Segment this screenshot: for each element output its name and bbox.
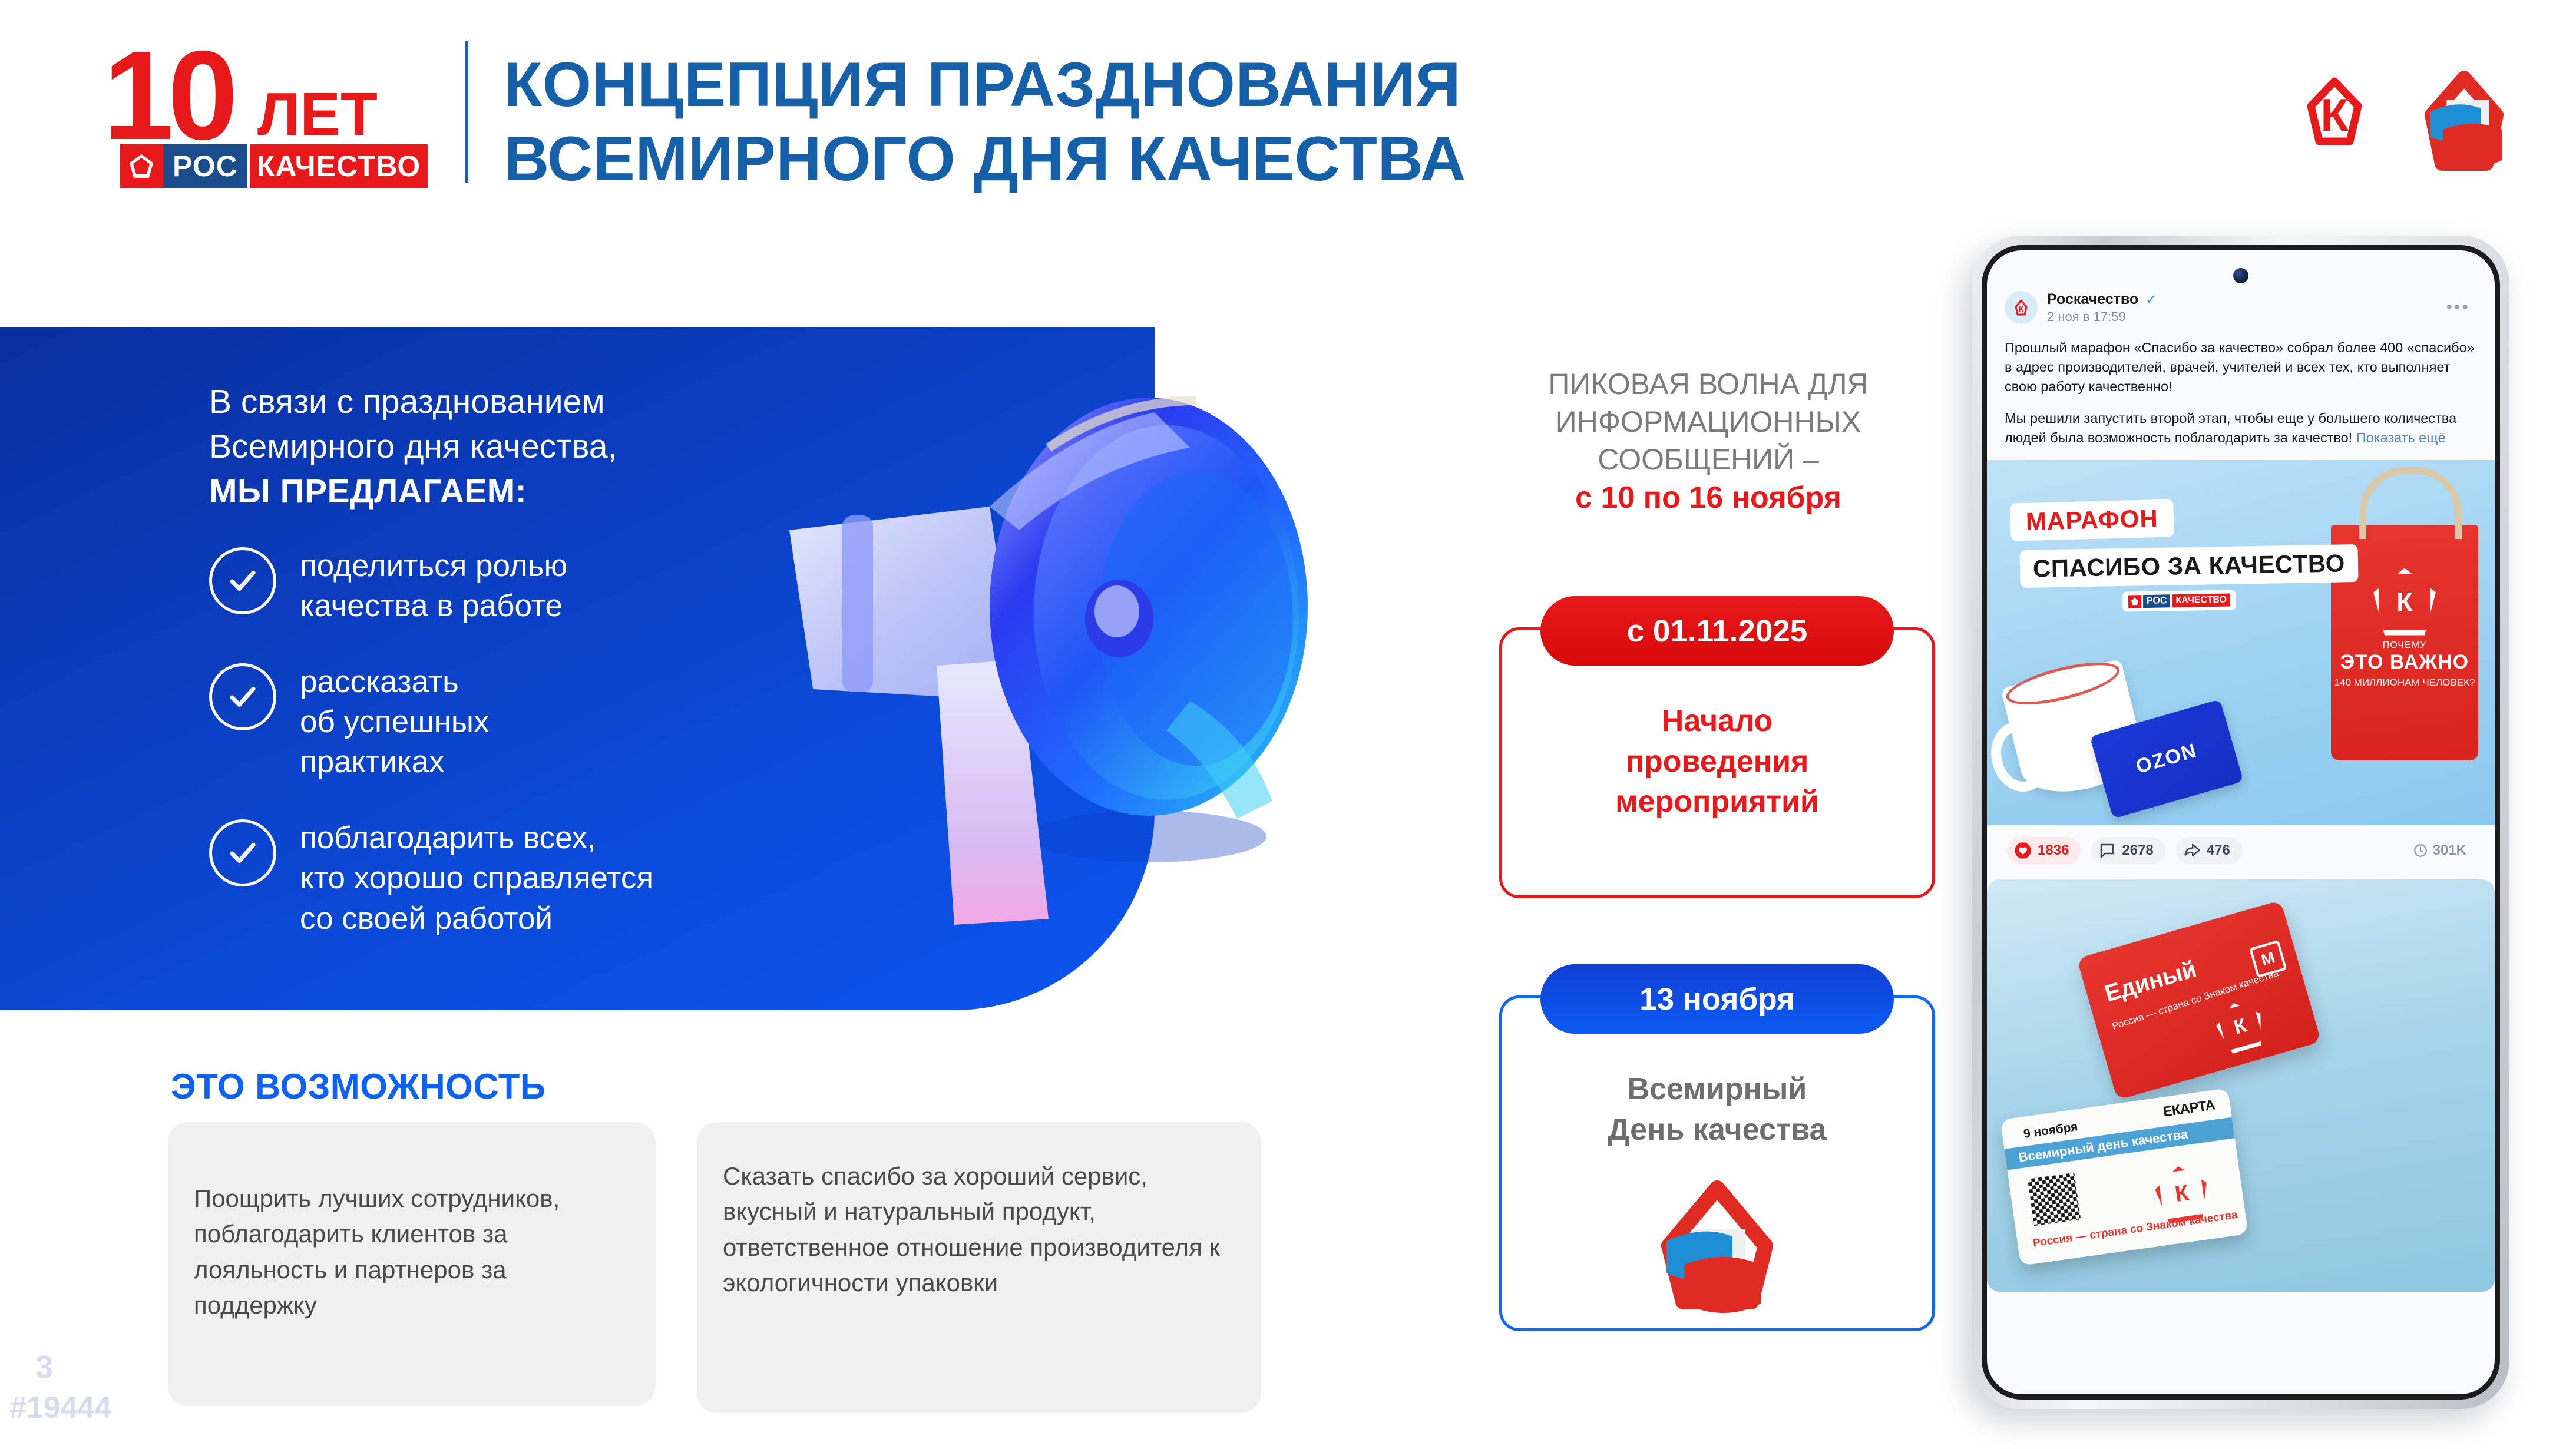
bullet-line: практиках xyxy=(300,742,490,782)
share-icon xyxy=(2183,842,2201,859)
proposal-lead-line1: В связи с празднованием xyxy=(209,380,798,425)
k-pentagon-icon: К xyxy=(2211,997,2269,1056)
timeline-card-start: с 01.11.2025 Начало проведения мероприят… xyxy=(1499,627,1935,898)
like-button[interactable]: 1836 xyxy=(2007,837,2081,864)
logo-years-word: ЛЕТ xyxy=(257,84,378,144)
proposal-lead-bold: МЫ ПРЕДЛАГАЕМ: xyxy=(209,472,527,510)
view-count-group: 301K xyxy=(2413,842,2475,859)
roskachestvo-mini-logo: РОС КАЧЕСТВО xyxy=(2122,590,2237,611)
russia-quality-mark-icon xyxy=(1641,1175,1794,1316)
verified-badge-icon: ✓ xyxy=(2145,292,2156,307)
comment-button[interactable]: 2678 xyxy=(2091,837,2165,864)
post-stats: 1836 2678 476 301K xyxy=(2005,825,2477,874)
list-item: поделиться ролью качества в работе xyxy=(209,545,857,627)
marathon-tag: МАРАФОН xyxy=(2010,499,2174,541)
check-circle-icon xyxy=(209,663,276,730)
peak-wave-dates: с 10 по 16 ноября xyxy=(1473,478,1944,518)
tote-maintext: ЭТО ВАЖНО xyxy=(2331,651,2478,674)
metro-card-red: Единый Россия — страна со Знаком качеств… xyxy=(2077,900,2322,1100)
heart-icon xyxy=(2014,842,2032,859)
opportunity-card: Сказать спасибо за хороший сервис, вкусн… xyxy=(697,1122,1261,1413)
list-item: поблагодарить всех, кто хорошо справляет… xyxy=(209,817,857,939)
bullet-line: рассказать xyxy=(300,662,490,702)
pentagon-quality-mark-icon xyxy=(120,144,163,188)
bullet-line: поделиться ролью xyxy=(300,546,567,586)
peak-wave-heading: ПИКОВАЯ ВОЛНА ДЛЯ ИНФОРМАЦИОННЫХ СООБЩЕН… xyxy=(1473,365,1944,518)
comment-count: 2678 xyxy=(2122,842,2153,859)
post-text: Прошлый марафон «Спасибо за качество» со… xyxy=(2005,338,2477,448)
list-item: рассказать об успешных практиках xyxy=(209,661,857,783)
author-label: Роскачество xyxy=(2047,291,2138,307)
check-circle-icon xyxy=(209,819,276,886)
pentagon-quality-mark-icon xyxy=(2128,595,2141,608)
view-count: 301K xyxy=(2433,842,2466,859)
social-post: К Роскачество ✓ 2 ноя в 17:59 ••• Прошлы… xyxy=(1987,250,2495,1292)
k-pentagon-icon: К xyxy=(2311,81,2358,141)
page-title: КОНЦЕПЦИЯ ПРАЗДНОВАНИЯ ВСЕМИРНОГО ДНЯ КА… xyxy=(504,47,1800,196)
bullet-line: кто хорошо справляется xyxy=(300,858,653,898)
svg-text:К: К xyxy=(2320,89,2349,141)
post-image-marathon[interactable]: К ПОЧЕМУ ЭТО ВАЖНО 140 МИЛЛИОНАМ ЧЕЛОВЕК… xyxy=(1987,460,2495,825)
timeline-body-line: Всемирный xyxy=(1502,1069,1932,1110)
svg-text:К: К xyxy=(2018,305,2024,315)
mini-logo-kachestvo: КАЧЕСТВО xyxy=(2172,593,2230,607)
header-logos: К xyxy=(2270,35,2541,194)
page-title-line1: КОНЦЕПЦИЯ ПРАЗДНОВАНИЯ xyxy=(504,47,1800,121)
bullet-line: об успешных xyxy=(300,702,490,742)
marathon-title-tag: СПАСИБО ЗА КАЧЕСТВО xyxy=(2019,544,2358,588)
list-item-label: поделиться ролью качества в работе xyxy=(300,545,567,627)
show-more-link[interactable]: Показать ещё xyxy=(2356,430,2446,445)
header-divider xyxy=(465,41,468,183)
ekarta-date: 9 ноября xyxy=(2023,1120,2079,1142)
logo-kachestvo-text: КАЧЕСТВО xyxy=(250,144,428,188)
post-header: К Роскачество ✓ 2 ноя в 17:59 ••• xyxy=(2005,290,2477,325)
eye-icon xyxy=(2413,843,2428,858)
list-item-label: рассказать об успешных практиках xyxy=(300,661,490,783)
slide-id: #19444 xyxy=(9,1390,112,1425)
post-image-transport-cards[interactable]: Единый Россия — страна со Знаком качеств… xyxy=(1987,879,2495,1292)
post-paragraph: Мы решили запустить второй этап, чтобы е… xyxy=(2005,409,2477,448)
bullet-line: со своей работой xyxy=(300,899,653,939)
list-item-label: поблагодарить всех, кто хорошо справляет… xyxy=(300,817,653,939)
opportunity-card: Поощрить лучших сотрудников, поблагодари… xyxy=(168,1122,656,1406)
proposal-bullet-list: поделиться ролью качества в работе расск… xyxy=(209,545,857,973)
mini-logo-ros: РОС xyxy=(2143,594,2171,608)
qr-code-icon xyxy=(2028,1172,2081,1225)
ekarta-brand: ЕКАРТА xyxy=(2162,1097,2215,1120)
peak-wave-line1: ПИКОВАЯ ВОЛНА ДЛЯ xyxy=(1473,365,1944,403)
page-number: 3 xyxy=(35,1349,53,1385)
logo-ros-text: РОС xyxy=(163,144,247,188)
post-author-name[interactable]: Роскачество ✓ xyxy=(2047,290,2157,309)
phone-mockup: К Роскачество ✓ 2 ноя в 17:59 ••• Прошлы… xyxy=(1972,236,2509,1409)
proposal-lead: В связи с празднованием Всемирного дня к… xyxy=(209,380,798,514)
phone-screen: К Роскачество ✓ 2 ноя в 17:59 ••• Прошлы… xyxy=(1982,245,2500,1400)
peak-wave-line3: СООБЩЕНИЙ – xyxy=(1473,441,1944,478)
front-camera-icon xyxy=(2233,268,2248,283)
share-button[interactable]: 476 xyxy=(2176,837,2242,864)
opportunity-title: ЭТО ВОЗМОЖНОСТЬ xyxy=(171,1066,545,1107)
page-title-line2: ВСЕМИРНОГО ДНЯ КАЧЕСТВА xyxy=(504,121,1800,196)
bullet-line: качества в работе xyxy=(300,586,567,626)
post-author-meta: Роскачество ✓ 2 ноя в 17:59 xyxy=(2047,290,2157,325)
roskachestvo-10-years-logo: 10 ЛЕТ РОС КАЧЕСТВО xyxy=(103,35,457,200)
check-circle-icon xyxy=(209,547,276,614)
post-timestamp: 2 ноя в 17:59 xyxy=(2047,309,2157,325)
logo-years-number: 10 xyxy=(103,32,232,158)
ekarta-card-white: 9 ноября ЕКАРТА Всемирный день качества … xyxy=(2000,1088,2248,1266)
timeline-body-line: Начало xyxy=(1502,701,1932,742)
bullet-line: поблагодарить всех, xyxy=(300,818,653,858)
russia-quality-mark-icon xyxy=(2430,78,2502,167)
peak-wave-line2: ИНФОРМАЦИОННЫХ xyxy=(1473,403,1944,441)
logo-years-block: 10 ЛЕТ xyxy=(103,35,457,147)
tote-pretext: ПОЧЕМУ xyxy=(2331,640,2478,651)
timeline-card-worldday: 13 ноября Всемирный День качества xyxy=(1499,995,1935,1331)
logo-wordmark: РОС КАЧЕСТВО xyxy=(120,144,428,188)
more-options-icon[interactable]: ••• xyxy=(2446,297,2477,317)
proposal-panel: В связи с празднованием Всемирного дня к… xyxy=(0,327,1155,1010)
timeline-pill-date: 13 ноября xyxy=(1540,964,1894,1034)
metro-logo-icon: М xyxy=(2249,939,2287,977)
share-count: 476 xyxy=(2207,842,2230,859)
slide-root: 10 ЛЕТ РОС КАЧЕСТВО КОНЦЕПЦИЯ ПРАЗДНОВАН… xyxy=(0,0,2576,1449)
timeline-body-line: День качества xyxy=(1502,1110,1932,1150)
k-pentagon-icon: К xyxy=(2373,568,2436,636)
proposal-lead-line2: Всемирного дня качества, xyxy=(209,425,798,469)
timeline-pill-date: с 01.11.2025 xyxy=(1540,596,1894,666)
like-count: 1836 xyxy=(2038,842,2069,859)
k-pentagon-icon: К xyxy=(2152,1163,2211,1225)
comment-icon xyxy=(2098,842,2116,859)
timeline-body-line: проведения xyxy=(1502,742,1932,782)
avatar: К xyxy=(2005,291,2038,324)
tote-subtext: 140 МИЛЛИОНАМ ЧЕЛОВЕК? xyxy=(2331,677,2478,689)
opportunity-cards: Поощрить лучших сотрудников, поблагодари… xyxy=(168,1122,1261,1413)
post-paragraph: Прошлый марафон «Спасибо за качество» со… xyxy=(2005,338,2477,397)
timeline-body-line: мероприятий xyxy=(1502,782,1932,822)
